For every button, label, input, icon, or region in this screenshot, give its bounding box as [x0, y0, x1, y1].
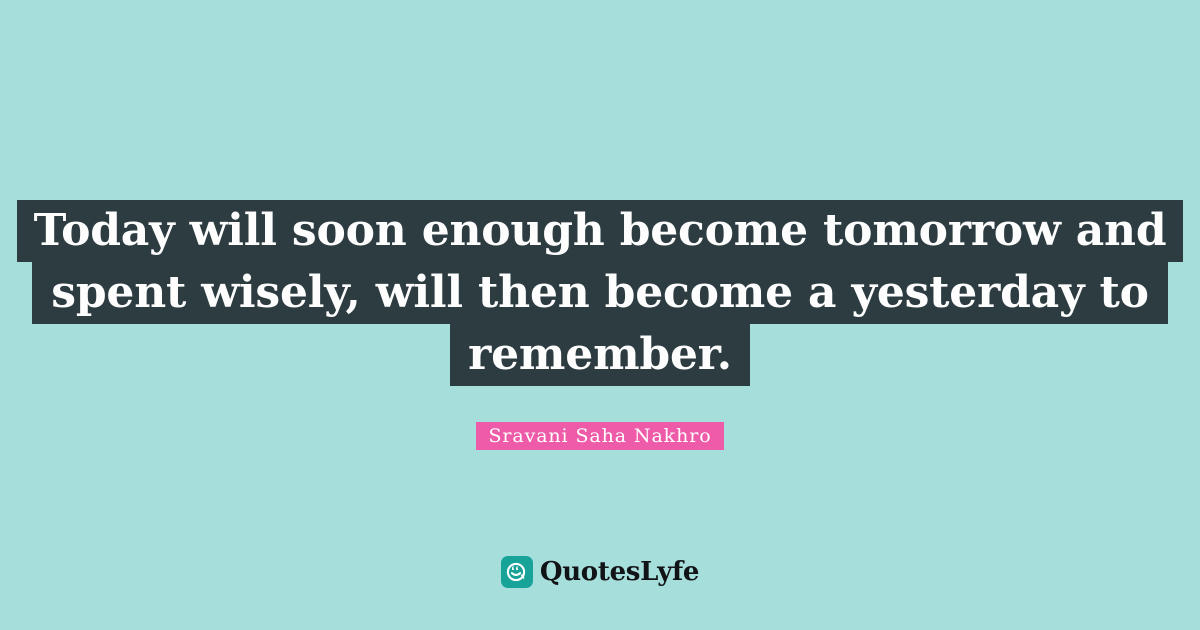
quote-text-block: Today will soon enough become tomorrow a… — [0, 200, 1200, 386]
brand-name: QuotesLyfe — [540, 556, 699, 588]
quote-line-3: remember. — [450, 324, 750, 386]
quote-line-1: Today will soon enough become tomorrow a… — [17, 200, 1184, 262]
quote-smiley-icon — [501, 556, 533, 588]
author-name-badge: Sravani Saha Nakhro — [476, 422, 723, 450]
quote-line-2: spent wisely, will then become a yesterd… — [32, 262, 1167, 324]
quote-line-row: remember. — [0, 324, 1200, 386]
quote-card: Today will soon enough become tomorrow a… — [0, 0, 1200, 630]
quote-line-row: spent wisely, will then become a yesterd… — [0, 262, 1200, 324]
brand-logo[interactable]: QuotesLyfe — [0, 556, 1200, 588]
author-attribution: Sravani Saha Nakhro — [0, 422, 1200, 450]
quote-line-row: Today will soon enough become tomorrow a… — [0, 200, 1200, 262]
